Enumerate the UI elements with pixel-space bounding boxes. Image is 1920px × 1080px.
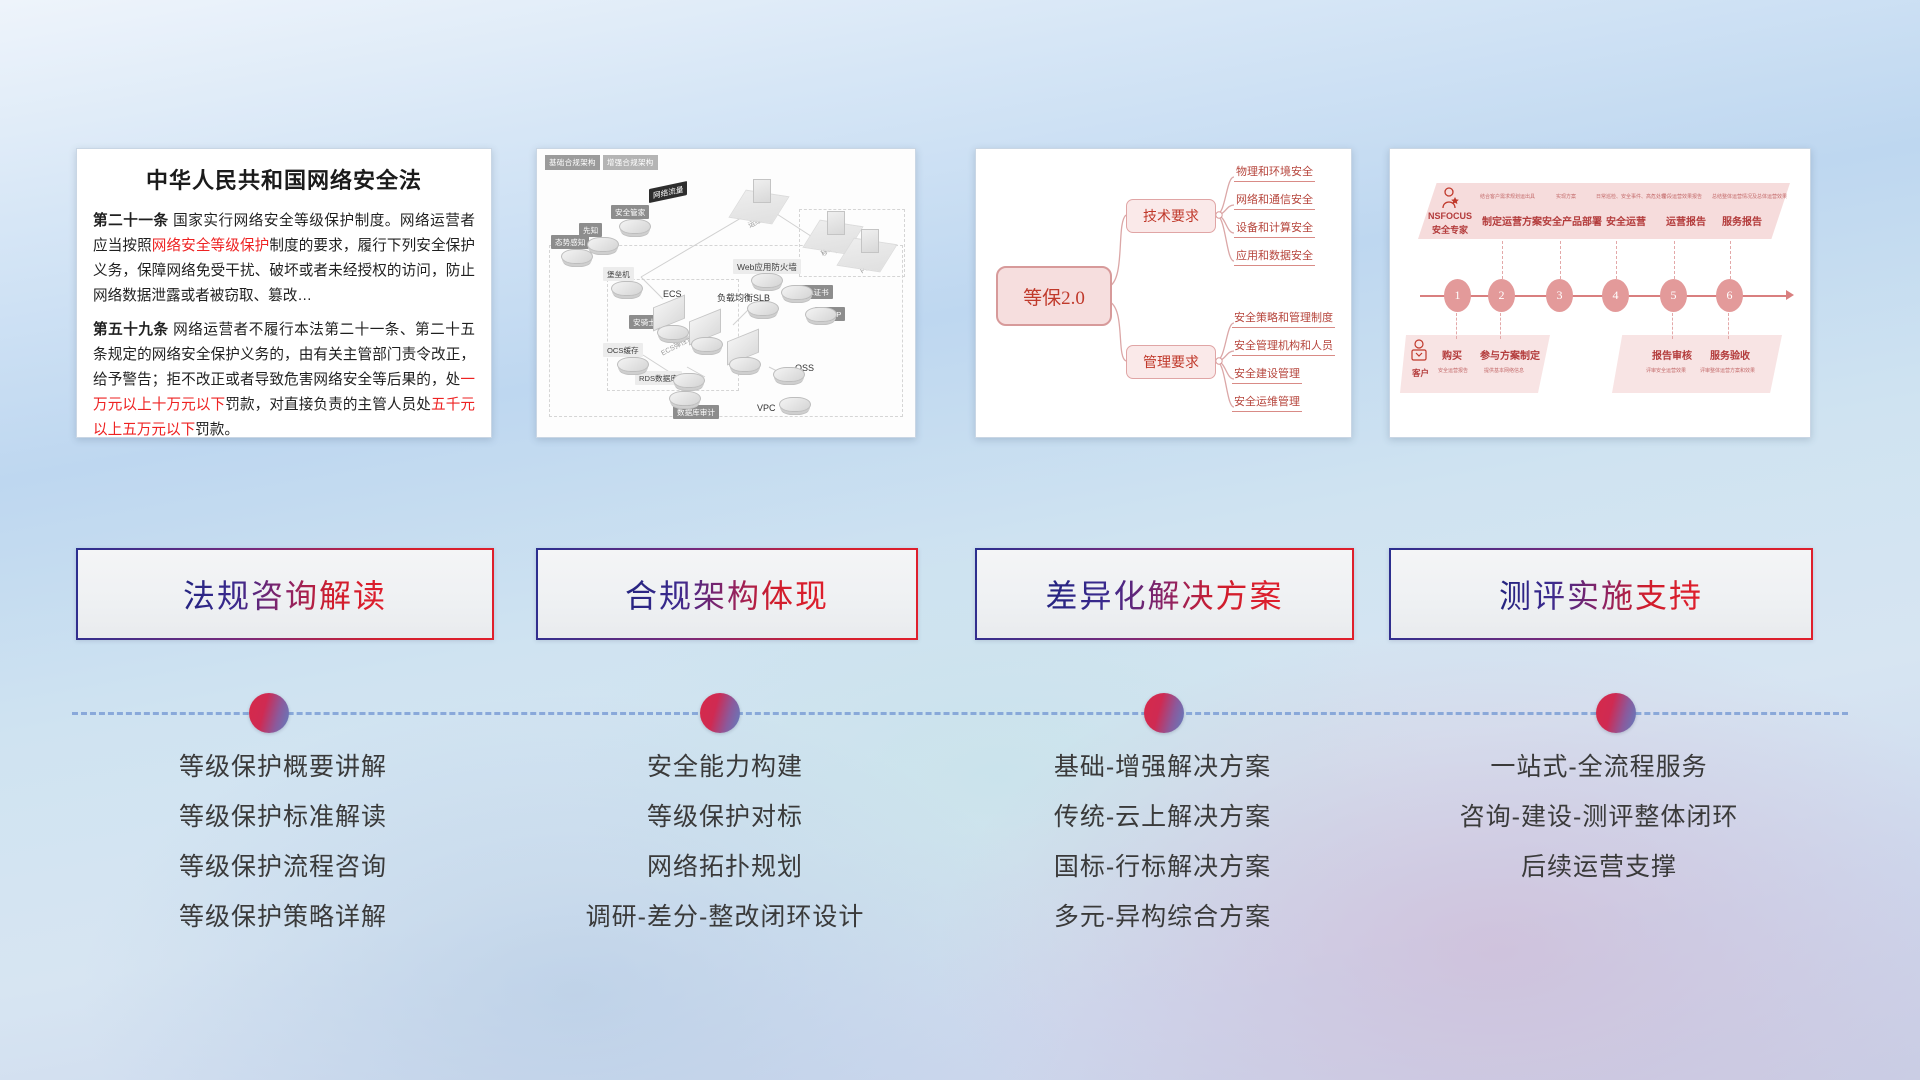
timeline-bottom-sub-4: 评审整体运营方案和效果 <box>1700 367 1755 374</box>
icon-disk-ecs3 <box>729 357 761 372</box>
list-item: 等级保护对标 <box>536 792 914 842</box>
timeline-top-sub-5: 总结整体运营情况及总体运营效果 <box>1712 193 1787 200</box>
law-article-59-post: 罚款。 <box>195 422 239 438</box>
timeline-dashed-line <box>72 712 1848 715</box>
card-cybersecurity-law[interactable]: 中华人民共和国网络安全法 第二十一条 国家实行网络安全等级保护制度。网络运营者应… <box>76 148 492 438</box>
headline-box-4[interactable]: 测评实施支持 <box>1389 548 1813 640</box>
list-item: 传统-云上解决方案 <box>975 792 1350 842</box>
timeline-connector-4 <box>1616 241 1618 279</box>
timeline-top-sub-3: 日常巡检、安全事件、高危处理 <box>1596 193 1666 200</box>
node-label-db-audit: 数据库审计 <box>673 405 719 419</box>
icon-server-ops <box>753 179 771 203</box>
timeline-top-label-3: 安全运营 <box>1606 213 1646 228</box>
icon-disk-antiddos <box>805 307 837 322</box>
timeline-top-band <box>1418 183 1790 239</box>
icon-disk-ca <box>781 285 813 300</box>
icon-cube-ecs <box>653 301 685 325</box>
mindmap-branch-technical: 技术要求 <box>1126 199 1216 233</box>
headline-box-2[interactable]: 合规架构体现 <box>536 548 918 640</box>
timeline-connector-1-down <box>1456 313 1458 339</box>
expert-person-icon <box>1440 187 1460 214</box>
timeline-step-1[interactable]: 1 <box>1444 279 1471 312</box>
icon-disk-vpc <box>779 397 811 412</box>
list-item: 安全能力构建 <box>536 742 914 792</box>
expert-label-line2: 安全专家 <box>1432 223 1468 236</box>
mindmap: 等保2.0 技术要求 管理要求 物理和环境安全 网络和通信安全 设备和计算安全 … <box>976 149 1351 437</box>
headline-box-1[interactable]: 法规咨询解读 <box>76 548 494 640</box>
list-item: 咨询-建设-测评整体闭环 <box>1389 792 1809 842</box>
mindmap-branch-management: 管理要求 <box>1126 345 1216 379</box>
timeline-bottom-sub-1: 安全运营报告 <box>1438 367 1468 374</box>
headline-text-4: 测评实施支持 <box>1499 571 1703 617</box>
timeline-bottom-sub-2: 提供基本网络信息 <box>1484 367 1524 374</box>
node-label-security-butler: 安全管家 <box>611 205 649 219</box>
detail-list-1: 等级保护概要讲解 等级保护标准解读 等级保护流程咨询 等级保护策略详解 <box>76 742 490 942</box>
timeline-bottom-label-1: 购买 <box>1442 347 1462 362</box>
timeline-step-4[interactable]: 4 <box>1602 279 1629 312</box>
node-label-waf: Web应用防火墙 <box>733 259 801 274</box>
detail-list-row: 等级保护概要讲解 等级保护标准解读 等级保护流程咨询 等级保护策略详解 安全能力… <box>0 742 1920 962</box>
timeline-node-1[interactable] <box>249 693 289 733</box>
slide-canvas: 中华人民共和国网络安全法 第二十一条 国家实行网络安全等级保护制度。网络运营者应… <box>0 0 1920 1080</box>
icon-server-mobile <box>827 211 845 235</box>
customer-person-icon <box>1410 339 1428 368</box>
mindmap-leaf-mgmt-3: 安全建设管理 <box>1232 365 1302 384</box>
icon-disk-anqishi <box>657 325 689 340</box>
timeline-top-label-2: 安全产品部署 <box>1542 213 1602 228</box>
law-article-21-number: 第二十一条 <box>93 213 169 229</box>
timeline-step-6[interactable]: 6 <box>1716 279 1743 312</box>
detail-list-3: 基础-增强解决方案 传统-云上解决方案 国标-行标解决方案 多元-异构综合方案 <box>975 742 1350 942</box>
timeline-bottom-sub-3: 评审安全运营效果 <box>1646 367 1686 374</box>
headline-row: 法规咨询解读 合规架构体现 差异化解决方案 测评实施支持 <box>0 548 1920 640</box>
node-label-ocs-cache: OCS缓存 <box>603 343 643 357</box>
list-item: 一站式-全流程服务 <box>1389 742 1809 792</box>
timeline-top-label-1: 制定运营方案 <box>1482 213 1542 228</box>
architecture-diagram: 基础合规架构 增强合规架构 <box>537 149 915 437</box>
timeline-step-5[interactable]: 5 <box>1660 279 1687 312</box>
mindmap-leaf-tech-3: 设备和计算安全 <box>1234 219 1315 238</box>
list-item: 调研-差分-整改闭环设计 <box>536 892 914 942</box>
icon-disk-butler <box>619 219 651 234</box>
timeline-top-label-4: 运营报告 <box>1666 213 1706 228</box>
timeline-top-label-5: 服务报告 <box>1722 213 1762 228</box>
headline-box-3[interactable]: 差异化解决方案 <box>975 548 1354 640</box>
timeline-connector-6-down <box>1728 313 1730 339</box>
image-card-row: 中华人民共和国网络安全法 第二十一条 国家实行网络安全等级保护制度。网络运营者应… <box>0 148 1920 440</box>
law-document: 中华人民共和国网络安全法 第二十一条 国家实行网络安全等级保护制度。网络运营者应… <box>77 149 491 437</box>
timeline-connector-5 <box>1674 241 1676 279</box>
detail-list-4: 一站式-全流程服务 咨询-建设-测评整体闭环 后续运营支撑 <box>1389 742 1809 892</box>
law-article-59-mid: 罚款，对直接负责的主管人员处 <box>225 397 431 413</box>
timeline-top-sub-4: 阶段运营效果报告 <box>1662 193 1702 200</box>
mindmap-leaf-mgmt-2: 安全管理机构和人员 <box>1232 337 1335 356</box>
law-title: 中华人民共和国网络安全法 <box>93 163 475 195</box>
list-item: 等级保护策略详解 <box>76 892 490 942</box>
list-item: 等级保护概要讲解 <box>76 742 490 792</box>
timeline-step-3[interactable]: 3 <box>1546 279 1573 312</box>
icon-disk-situation <box>561 249 593 264</box>
customer-label: 客户 <box>1412 367 1429 379</box>
headline-text-3: 差异化解决方案 <box>1045 571 1283 617</box>
expert-label-line1: NSFOCUS <box>1428 211 1472 221</box>
timeline-connector-6 <box>1730 241 1732 279</box>
timeline-connector-2 <box>1502 241 1504 279</box>
timeline-bottom-label-4: 服务验收 <box>1710 347 1750 362</box>
mindmap-leaf-tech-1: 物理和环境安全 <box>1234 163 1315 182</box>
card-service-timeline[interactable]: NSFOCUS 安全专家 结合客户需求规划运出具 制定运营方案 实现方案 安全产… <box>1389 148 1811 438</box>
card-cloud-architecture[interactable]: 基础合规架构 增强合规架构 <box>536 148 916 438</box>
node-label-bastion-host: 堡垒机 <box>603 267 634 281</box>
timeline-node-4[interactable] <box>1596 693 1636 733</box>
law-article-59-number: 第五十九条 <box>93 322 169 338</box>
icon-disk-dbaudit <box>669 391 701 406</box>
law-article-21-highlight: 网络安全等级保护 <box>152 238 270 254</box>
service-timeline: NSFOCUS 安全专家 结合客户需求规划运出具 制定运营方案 实现方案 安全产… <box>1390 149 1810 437</box>
timeline-arrow-head <box>1786 290 1794 300</box>
timeline-bottom-label-2: 参与方案制定 <box>1480 347 1540 362</box>
mindmap-leaf-mgmt-1: 安全策略和管理制度 <box>1232 309 1335 328</box>
list-item: 后续运营支撑 <box>1389 842 1809 892</box>
icon-disk-waf <box>751 273 783 288</box>
list-item: 等级保护流程咨询 <box>76 842 490 892</box>
icon-disk-ecs2 <box>691 337 723 352</box>
law-article-21: 第二十一条 国家实行网络安全等级保护制度。网络运营者应当按照网络安全等级保护制度… <box>93 209 475 309</box>
card-dengbao-mindmap[interactable]: 等保2.0 技术要求 管理要求 物理和环境安全 网络和通信安全 设备和计算安全 … <box>975 148 1352 438</box>
mindmap-leaf-tech-4: 应用和数据安全 <box>1234 247 1315 266</box>
mindmap-leaf-tech-2: 网络和通信安全 <box>1234 191 1315 210</box>
list-item: 国标-行标解决方案 <box>975 842 1350 892</box>
icon-disk-rds <box>673 373 705 388</box>
timeline-node-3[interactable] <box>1144 693 1184 733</box>
node-label-situation-awareness: 态势感知 <box>551 235 589 249</box>
list-item: 等级保护标准解读 <box>76 792 490 842</box>
icon-server-pc <box>861 229 879 253</box>
detail-list-2: 安全能力构建 等级保护对标 网络拓扑规划 调研-差分-整改闭环设计 <box>536 742 914 942</box>
icon-cube-ecs3 <box>727 335 759 359</box>
timeline-connector-3 <box>1560 241 1562 279</box>
timeline-top-sub-2: 实现方案 <box>1556 193 1576 200</box>
timeline-top-sub-1: 结合客户需求规划运出具 <box>1480 193 1535 200</box>
icon-disk-oss <box>773 367 805 382</box>
icon-cube-ecs2 <box>689 315 721 339</box>
mindmap-leaf-mgmt-4: 安全运维管理 <box>1232 393 1302 412</box>
timeline-node-2[interactable] <box>700 693 740 733</box>
timeline-step-2[interactable]: 2 <box>1488 279 1515 312</box>
headline-text-1: 法规咨询解读 <box>183 571 387 617</box>
mindmap-root-node: 等保2.0 <box>996 266 1112 326</box>
headline-text-2: 合规架构体现 <box>625 571 829 617</box>
node-label-vpc: VPC <box>753 401 780 414</box>
law-article-59: 第五十九条 网络运营者不履行本法第二十一条、第二十五条规定的网络安全保护义务的，… <box>93 318 475 438</box>
icon-disk-ocs <box>617 357 649 372</box>
list-item: 网络拓扑规划 <box>536 842 914 892</box>
list-item: 多元-异构综合方案 <box>975 892 1350 942</box>
timeline-connector-2-down <box>1500 313 1502 339</box>
progress-timeline <box>0 693 1920 733</box>
icon-disk-bastion <box>611 281 643 296</box>
timeline-bottom-band-right <box>1612 335 1782 393</box>
icon-disk-slb <box>747 301 779 316</box>
timeline-connector-5-down <box>1672 313 1674 339</box>
timeline-bottom-label-3: 报告审核 <box>1652 347 1692 362</box>
list-item: 基础-增强解决方案 <box>975 742 1350 792</box>
